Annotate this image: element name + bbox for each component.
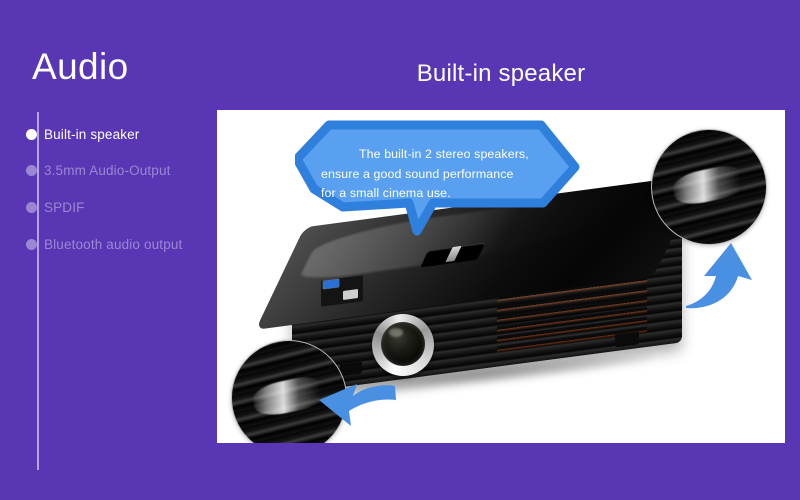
- magnifier-top-right-speaker-grille: [651, 129, 767, 245]
- projector-lens-glint: [389, 328, 403, 337]
- projector-lens-glass: [381, 322, 425, 366]
- sidebar: Audio Built-in speaker 3.5mm Audio-Outpu…: [0, 0, 217, 500]
- sidebar-item-label: SPDIF: [44, 200, 85, 215]
- arrow-to-top-right-magnifier-icon: [682, 240, 756, 310]
- bullet-icon: [26, 202, 37, 213]
- sidebar-item-label: Built-in speaker: [44, 127, 139, 142]
- callout-line-3: for a small cinema use.: [321, 184, 559, 204]
- content-panel: The built-in 2 stereo speakers, ensure a…: [217, 110, 785, 443]
- agenda-list: Built-in speaker 3.5mm Audio-Output SPDI…: [0, 0, 217, 500]
- bullet-icon: [26, 165, 37, 176]
- sidebar-item-label: 3.5mm Audio-Output: [44, 163, 171, 178]
- bullet-icon: [26, 239, 37, 250]
- arrow-to-bottom-left-magnifier-icon: [317, 382, 397, 436]
- sidebar-item-label: Bluetooth audio output: [44, 237, 182, 252]
- section-heading: Built-in speaker: [217, 60, 785, 88]
- sidebar-item-built-in-speaker[interactable]: Built-in speaker: [26, 125, 139, 143]
- sidebar-item-audio-output[interactable]: 3.5mm Audio-Output: [26, 161, 171, 179]
- bullet-icon: [26, 129, 37, 140]
- callout-line-1: The built-in 2 stereo speakers,: [321, 145, 559, 165]
- callout-line-2: ensure a good sound performance: [321, 165, 559, 185]
- callout-bubble: The built-in 2 stereo speakers, ensure a…: [295, 119, 585, 247]
- slide-canvas: Audio Built-in speaker 3.5mm Audio-Outpu…: [0, 0, 800, 500]
- sidebar-item-bluetooth-audio-output[interactable]: Bluetooth audio output: [26, 235, 182, 253]
- callout-bubble-text: The built-in 2 stereo speakers, ensure a…: [321, 145, 559, 204]
- sidebar-item-spdif[interactable]: SPDIF: [26, 198, 85, 216]
